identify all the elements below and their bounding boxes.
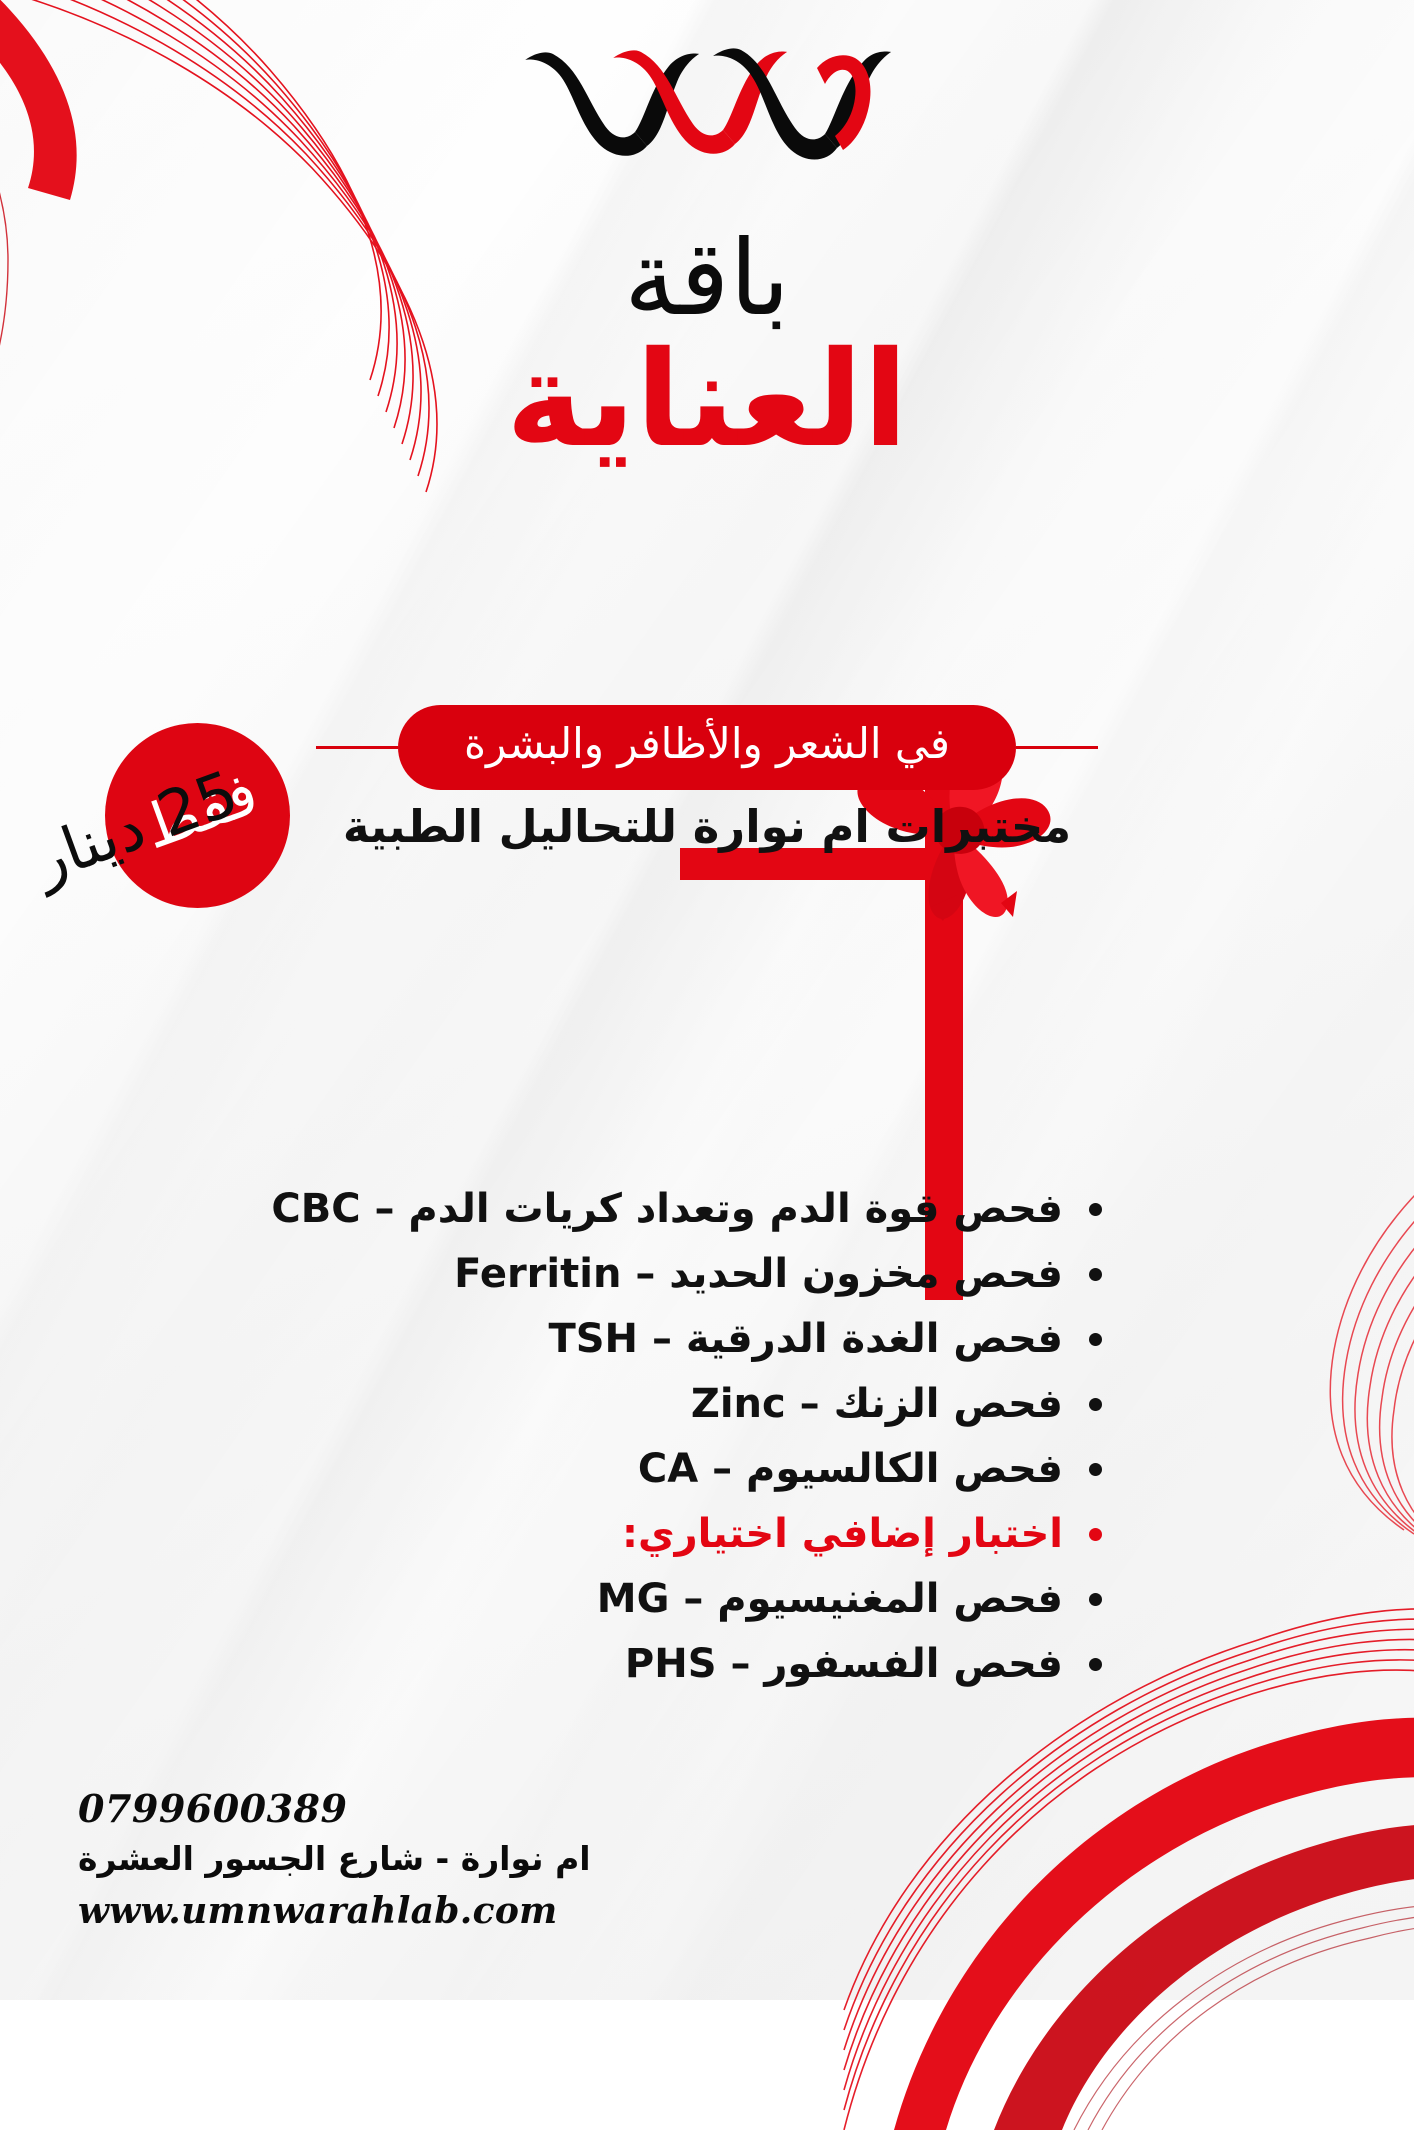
list-item: فحص مخزون الحديد – Ferritin (312, 1243, 1102, 1305)
test-label: فحص مخزون الحديد – Ferritin (454, 1243, 1063, 1305)
website-url[interactable]: www.umnwarahlab.com (78, 1890, 591, 1932)
test-label: فحص الفسفور – PHS (625, 1633, 1063, 1695)
address-line: ام نوارة - شارع الجسور العشرة (78, 1839, 591, 1878)
test-label: فحص قوة الدم وتعداد كريات الدم – CBC (271, 1178, 1063, 1240)
list-item: فحص الزنك – Zinc (312, 1373, 1102, 1435)
list-item: فحص المغنيسيوم – MG (312, 1568, 1102, 1630)
bullet-icon (1089, 1268, 1102, 1281)
bullet-icon (1089, 1658, 1102, 1671)
subtitle-badge: في الشعر والأظافر والبشرة (398, 705, 1016, 790)
list-item-optional-header: اختبار إضافي اختياري: (312, 1503, 1102, 1565)
bullet-icon (1089, 1593, 1102, 1606)
page-title-line1: باقة (0, 225, 1414, 331)
un-monogram-icon (517, 48, 897, 163)
phone-number[interactable]: 0799600389 (78, 1786, 591, 1831)
rule-right (1016, 746, 1098, 749)
list-item: فحص الغدة الدرقية – TSH (312, 1308, 1102, 1370)
bullet-icon (1089, 1203, 1102, 1216)
footer-contact: 0799600389 ام نوارة - شارع الجسور العشرة… (78, 1786, 591, 1932)
test-label: اختبار إضافي اختياري: (622, 1503, 1063, 1565)
tests-list: فحص قوة الدم وتعداد كريات الدم – CBC فحص… (0, 1178, 1414, 1698)
bullet-icon (1089, 1333, 1102, 1346)
rule-left (316, 746, 398, 749)
test-label: فحص الغدة الدرقية – TSH (548, 1308, 1063, 1370)
test-label: فحص الزنك – Zinc (691, 1373, 1063, 1435)
test-label: فحص الكالسيوم – CA (638, 1438, 1063, 1500)
bullet-icon (1089, 1528, 1102, 1541)
brand-logo (0, 48, 1414, 163)
bullet-icon (1089, 1463, 1102, 1476)
list-item: فحص الفسفور – PHS (312, 1633, 1102, 1695)
headline-block: باقة العناية (0, 225, 1414, 468)
page-title-line2: العناية (0, 333, 1414, 468)
bullet-icon (1089, 1398, 1102, 1411)
list-item: فحص قوة الدم وتعداد كريات الدم – CBC (312, 1178, 1102, 1240)
list-item: فحص الكالسيوم – CA (312, 1438, 1102, 1500)
test-label: فحص المغنيسيوم – MG (597, 1568, 1063, 1630)
